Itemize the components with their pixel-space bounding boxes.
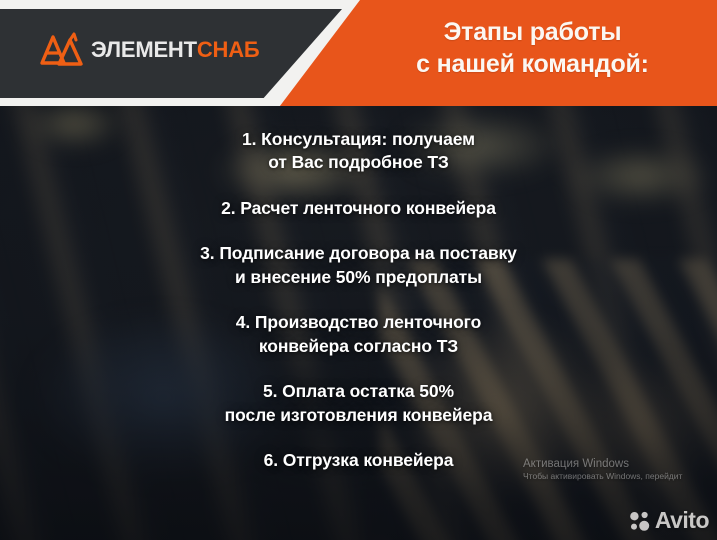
step-1-line2: от Вас подробное ТЗ	[99, 151, 619, 174]
header-title-line1: Этапы работы	[360, 17, 705, 49]
step-5-line2: после изготовления конвейера	[99, 404, 619, 427]
step-4-line1: 4. Производство ленточного	[236, 312, 481, 332]
windows-activation-title: Активация Windows	[523, 457, 717, 471]
header-title-line2: с нашей командой:	[360, 49, 705, 81]
step-2-line1: 2. Расчет ленточного конвейера	[221, 198, 496, 218]
avito-watermark: Avito	[629, 509, 709, 532]
step-item-5: 5. Оплата остатка 50% после изготовления…	[99, 380, 619, 427]
brand-name-part1: ЭЛЕМЕНТ	[91, 37, 197, 62]
avito-label: Avito	[655, 509, 709, 532]
header-bar: ЭЛЕМЕНТСНАБ Этапы работы с нашей командо…	[0, 0, 717, 106]
step-3-line2: и внесение 50% предоплаты	[99, 266, 619, 289]
step-item-2: 2. Расчет ленточного конвейера	[99, 197, 619, 220]
windows-activation-subtitle: Чтобы активировать Windows, перейдит	[523, 471, 717, 482]
step-item-3: 3. Подписание договора на поставку и вне…	[99, 242, 619, 289]
brand-wordmark: ЭЛЕМЕНТСНАБ	[91, 39, 260, 61]
promo-banner: ЭЛЕМЕНТСНАБ Этапы работы с нашей командо…	[0, 0, 717, 540]
step-3-line1: 3. Подписание договора на поставку	[200, 243, 517, 263]
step-4-line2: конвейера согласно ТЗ	[99, 335, 619, 358]
step-item-4: 4. Производство ленточного конвейера сог…	[99, 311, 619, 358]
step-6-line1: 6. Отгрузка конвейера	[264, 450, 454, 470]
step-item-1: 1. Консультация: получаем от Вас подробн…	[99, 128, 619, 175]
windows-activation-watermark: Активация Windows Чтобы активировать Win…	[523, 457, 717, 482]
header-title: Этапы работы с нашей командой:	[360, 17, 705, 80]
mountain-logo-icon	[40, 31, 84, 69]
avito-dots-icon	[629, 510, 651, 532]
brand-name-part2: СНАБ	[197, 37, 260, 62]
steps-list: 1. Консультация: получаем от Вас подробн…	[0, 128, 717, 472]
step-5-line1: 5. Оплата остатка 50%	[263, 381, 454, 401]
brand-logo: ЭЛЕМЕНТСНАБ	[40, 28, 260, 72]
step-1-line1: 1. Консультация: получаем	[242, 129, 475, 149]
